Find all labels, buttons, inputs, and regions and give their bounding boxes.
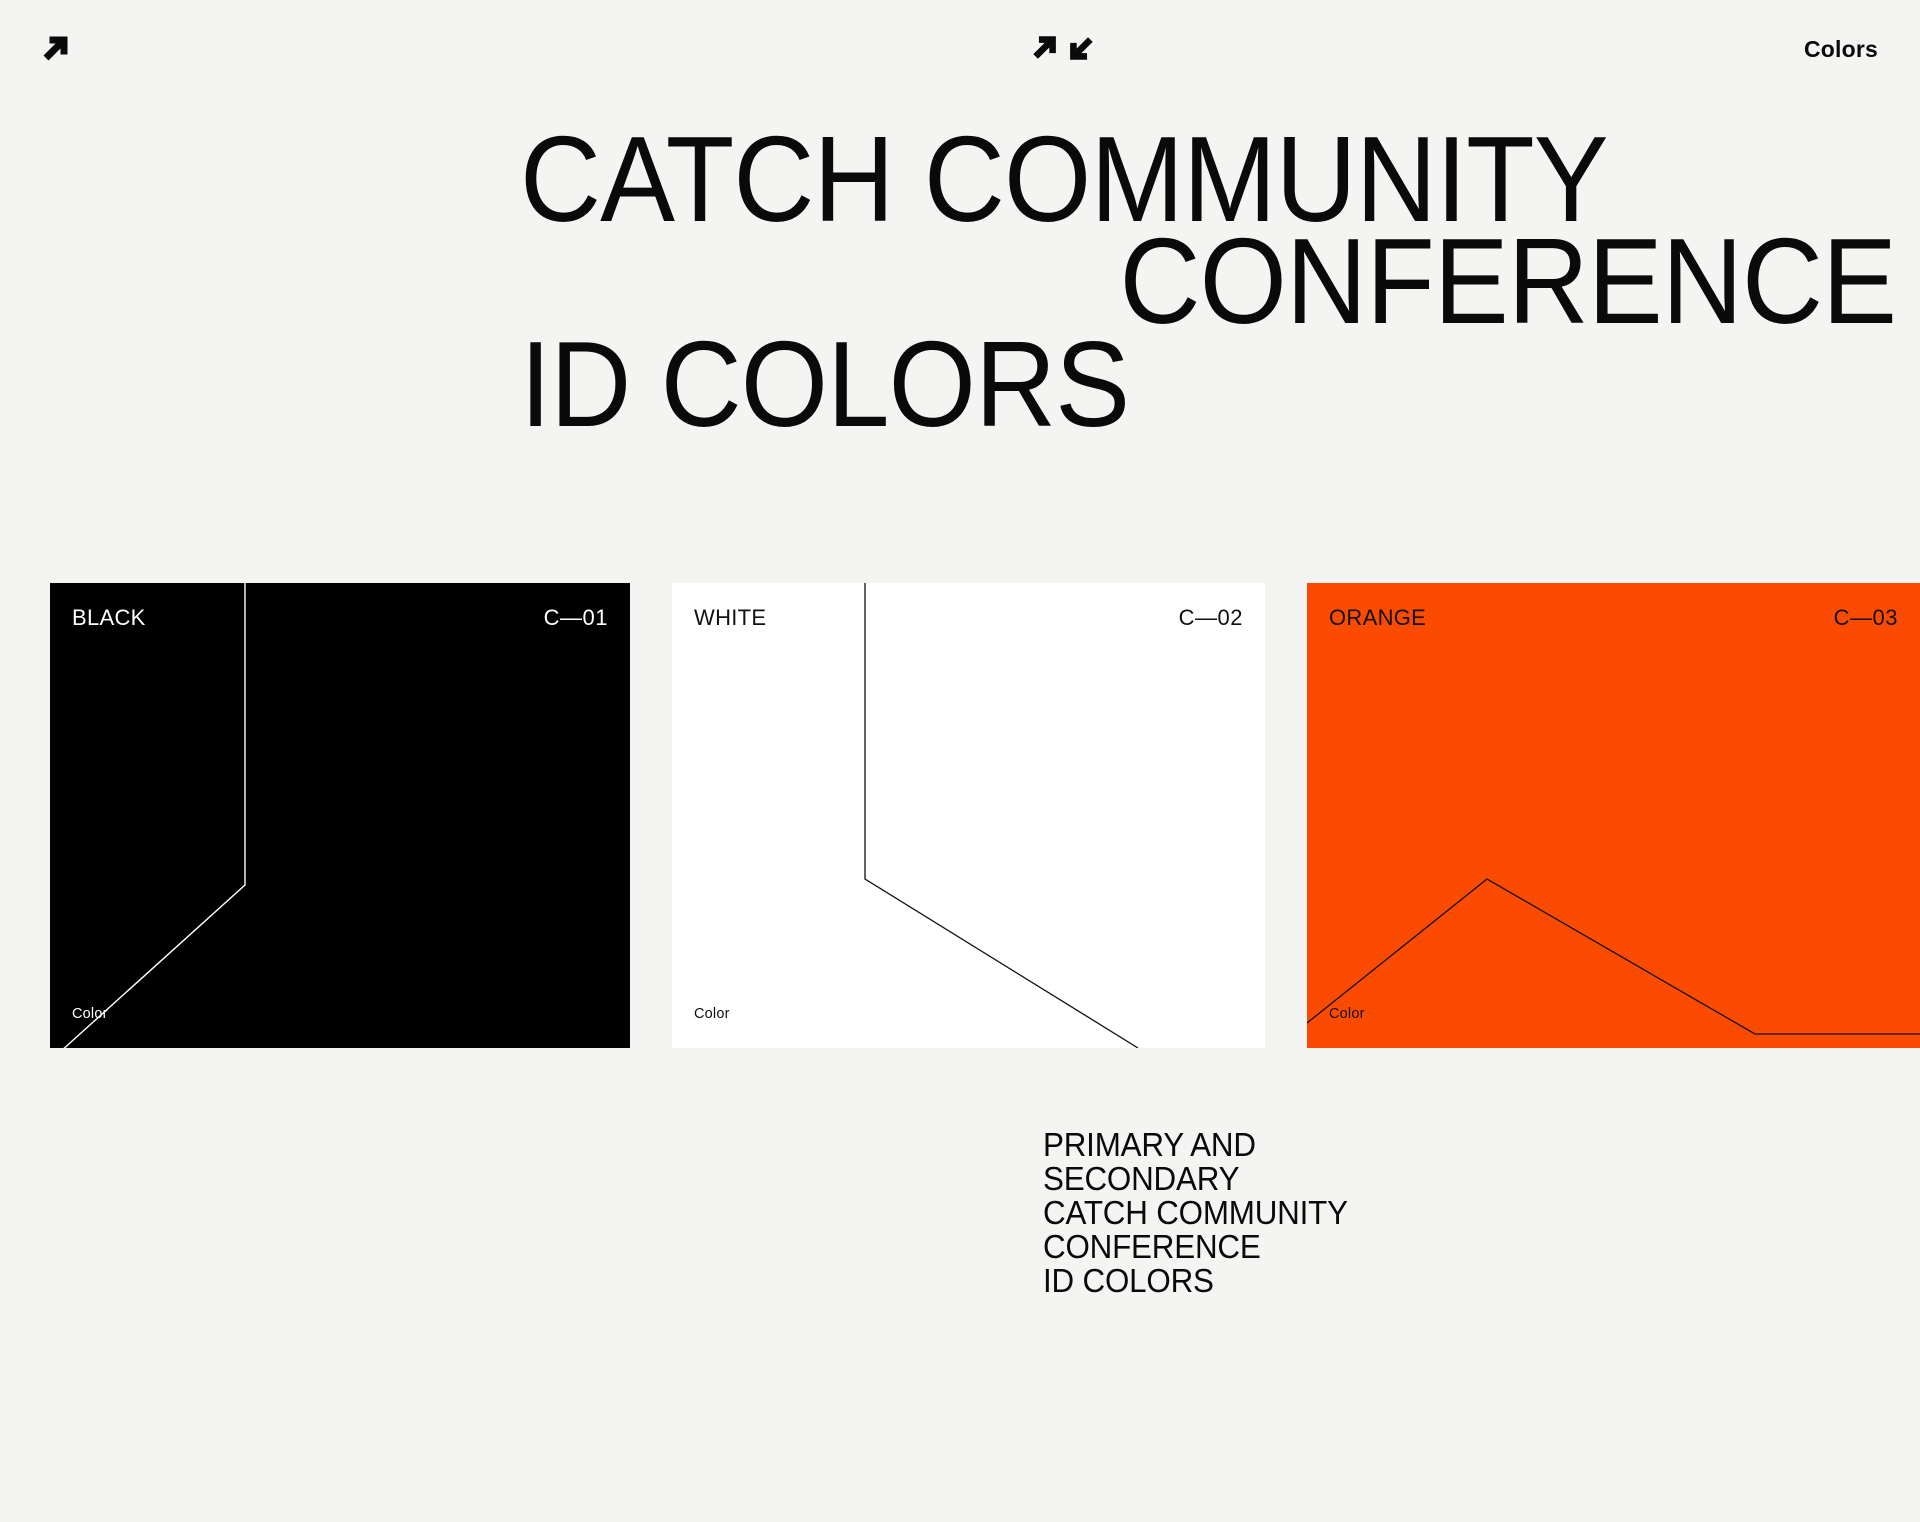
- swatch-line-art-white: [672, 583, 1265, 1048]
- footnote-line-3: CATCH COMMUNITY: [1043, 1196, 1348, 1230]
- swatch-code: C—01: [544, 605, 608, 631]
- center-logo-pair[interactable]: [1030, 32, 1096, 64]
- section-label[interactable]: Colors: [1804, 36, 1878, 63]
- swatch-code: C—02: [1179, 605, 1243, 631]
- swatch-caption: Color: [694, 1006, 730, 1022]
- swatch-caption: Color: [1329, 1006, 1365, 1022]
- brand-logo[interactable]: [40, 32, 74, 66]
- footnote-line-1: PRIMARY AND: [1043, 1128, 1348, 1162]
- footnote-line-4: CONFERENCE: [1043, 1230, 1348, 1264]
- arrow-down-left-icon: [1064, 32, 1096, 64]
- swatch-card-black[interactable]: BLACK C—01 Color: [50, 583, 630, 1048]
- arrow-up-right-icon: [40, 32, 74, 66]
- footnote-description: PRIMARY AND SECONDARY CATCH COMMUNITY CO…: [1043, 1128, 1348, 1298]
- swatch-header-white: WHITE C—02: [672, 605, 1265, 631]
- arrow-up-right-icon: [1030, 32, 1062, 64]
- swatch-card-orange[interactable]: ORANGE C—03 Color: [1307, 583, 1920, 1048]
- swatch-header-black: BLACK C—01: [50, 605, 630, 631]
- swatch-line-art-black: [50, 583, 630, 1048]
- swatch-card-white[interactable]: WHITE C—02 Color: [672, 583, 1265, 1048]
- swatch-code: C—03: [1834, 605, 1898, 631]
- swatch-line-art-orange: [1307, 583, 1920, 1048]
- page-title: CATCH COMMUNITY CONFERENCE ID COLORS: [0, 128, 1920, 435]
- top-bar: Colors: [0, 0, 1920, 96]
- color-guidelines-page: Colors CATCH COMMUNITY CONFERENCE ID COL…: [0, 0, 1920, 1522]
- footnote-line-2: SECONDARY: [1043, 1162, 1348, 1196]
- swatch-header-orange: ORANGE C—03: [1307, 605, 1920, 631]
- swatch-name: WHITE: [694, 605, 766, 631]
- swatch-caption: Color: [72, 1006, 108, 1022]
- footnote-line-5: ID COLORS: [1043, 1264, 1348, 1298]
- page-title-line-3: ID COLORS: [520, 333, 1808, 435]
- color-swatch-row: BLACK C—01 Color WHITE C—02 Color ORANGE…: [0, 583, 1920, 1048]
- swatch-name: ORANGE: [1329, 605, 1426, 631]
- swatch-name: BLACK: [72, 605, 146, 631]
